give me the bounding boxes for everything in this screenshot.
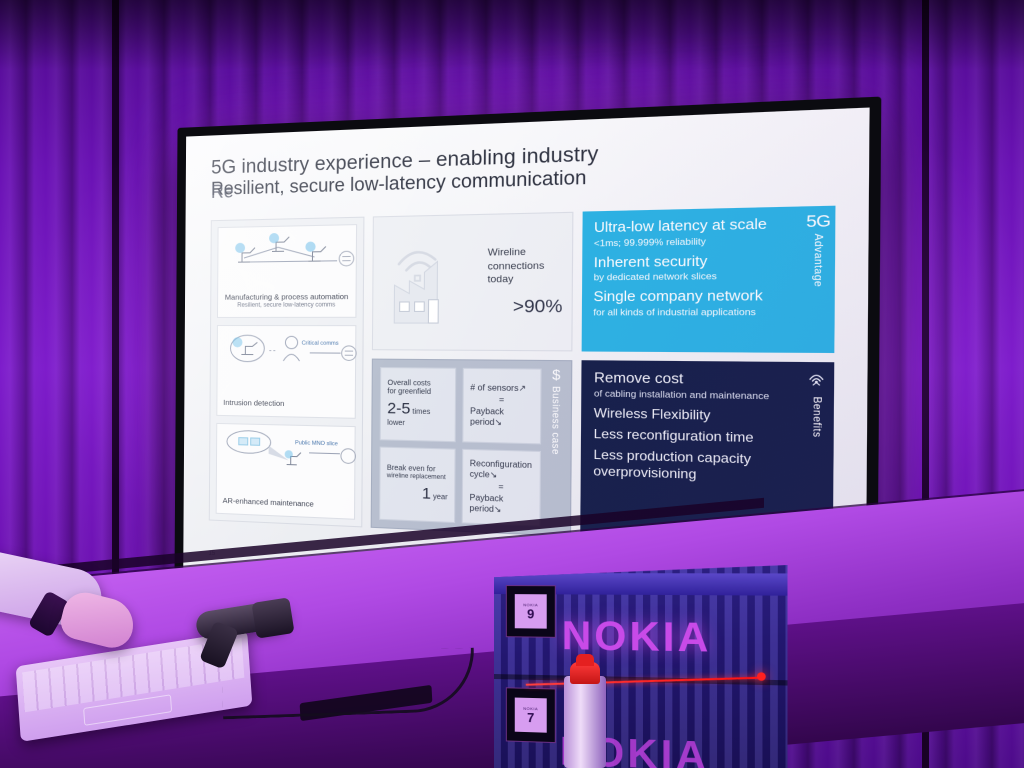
down-arrow-icon: ↘ xyxy=(494,504,501,514)
dollar-icon: $ xyxy=(552,368,560,382)
biz-value: 2-5 xyxy=(387,400,410,418)
factory-line-3: today xyxy=(487,273,562,287)
usecase-card-manufacturing: Manufacturing & process automation Resil… xyxy=(217,224,357,318)
benefits-label-text: Benefits xyxy=(811,396,824,437)
usecase-tag: Critical comms xyxy=(302,341,339,347)
business-case-panel: Overall costs for greenfield 2-5 times l… xyxy=(371,359,573,537)
advantage-panel: 5G Ultra-low latency at scale <1ms; 99.9… xyxy=(582,206,836,353)
benefits-heading: Remove cost xyxy=(594,370,794,389)
screenshot-stage: 5G industry experience – enabling indust… xyxy=(0,0,1024,768)
advantage-sub: <1ms; 99.999% reliability xyxy=(594,233,797,248)
factory-wifi-icon xyxy=(381,233,481,331)
biz-line: wireline replacement xyxy=(387,473,448,483)
container-placard-2: NOKIA 7 xyxy=(506,687,556,743)
advantage-sub: by dedicated network slices xyxy=(594,270,797,283)
usecase-title: Intrusion detection xyxy=(223,398,348,410)
title-overlap-fragment: Re xyxy=(211,181,234,203)
placard-number: 9 xyxy=(527,607,534,620)
ceiling-shadow xyxy=(0,0,1024,70)
laser-dot xyxy=(757,672,766,681)
biz-value-suffix: year xyxy=(433,493,448,501)
spray-can-body[interactable] xyxy=(564,676,606,768)
advantage-sub: for all kinds of industrial applications xyxy=(593,306,796,318)
biz-box-breakeven: Break even for wireline replacement 1 ye… xyxy=(379,447,456,524)
biz-line: Payback period↘ xyxy=(469,493,532,517)
benefits-line: Less production capacity overprovisionin… xyxy=(593,447,793,486)
advantage-heading: Single company network xyxy=(593,288,796,305)
biz-line: Payback period↘ xyxy=(470,406,533,429)
advantage-heading: Inherent security xyxy=(594,252,798,271)
factory-panel: Wireline connections today >90% xyxy=(372,212,574,352)
benefits-line: Wireless Flexibility xyxy=(594,405,794,426)
usecase-title: Manufacturing & process automation xyxy=(224,292,349,302)
advantage-label-text: Advantage xyxy=(812,233,825,287)
usecase-title: AR-enhanced maintenance xyxy=(223,496,348,510)
advantage-badge: 5G xyxy=(806,212,830,232)
up-arrow-icon: ↗ xyxy=(518,383,526,393)
advantage-heading: Ultra-low latency at scale xyxy=(594,216,798,236)
nokia-container-model: NOKIA NOKIA NOKIA 9 NOKIA 7 xyxy=(494,565,788,768)
biz-value: 1 xyxy=(422,484,431,502)
usecase-card-intrusion: Critical comms Intrusion detection xyxy=(216,325,356,419)
hair-dryer-nozzle xyxy=(251,597,294,639)
down-arrow-icon: ↘ xyxy=(490,470,497,480)
biz-box-greenfield: Overall costs for greenfield 2-5 times l… xyxy=(380,367,457,442)
usecase-subtitle: Resilient, secure low-latency comms xyxy=(224,302,349,310)
biz-equals: = xyxy=(470,395,533,407)
factory-line-2: connections xyxy=(488,260,563,274)
usecase-card-ar: Public MNO slice AR-enhanced maintenance xyxy=(216,423,356,520)
ar-headset-icon xyxy=(217,428,355,473)
usecase-tag: Public MNO slice xyxy=(295,440,338,447)
biz-equals: = xyxy=(470,481,533,494)
factory-percentage: >90% xyxy=(487,296,562,318)
biz-line: # of sensors↗ xyxy=(470,383,533,395)
robot-arm-icon xyxy=(218,229,356,272)
biz-line: for greenfield xyxy=(387,388,448,398)
benefits-sub: of cabling installation and maintenance xyxy=(594,387,794,402)
slide-body-grid: Manufacturing & process automation Resil… xyxy=(209,206,836,549)
biz-text: # of sensors xyxy=(470,383,518,393)
business-case-side-label: $ Business case xyxy=(544,368,568,529)
business-case-label-text: Business case xyxy=(550,386,562,455)
advantage-side-label: Advantage xyxy=(805,233,831,346)
placard-number: 7 xyxy=(527,711,534,724)
factory-line-1: Wireline xyxy=(488,246,563,261)
spray-can-nozzle xyxy=(576,654,594,666)
biz-text: cycle xyxy=(470,469,490,479)
person-detection-icon xyxy=(218,330,356,372)
container-placard-1: NOKIA 9 xyxy=(506,585,556,638)
down-arrow-icon: ↘ xyxy=(495,417,503,427)
wireless-signal-icon xyxy=(806,369,826,388)
usecase-column: Manufacturing & process automation Resil… xyxy=(209,217,365,528)
biz-box-reconfiguration: Reconfiguration cycle↘ = Payback period↘ xyxy=(462,449,541,527)
biz-line: cycle↘ xyxy=(470,469,533,482)
benefits-line: Less reconfiguration time xyxy=(594,426,794,447)
biz-box-sensors: # of sensors↗ = Payback period↘ xyxy=(462,368,541,445)
slide-header: 5G industry experience – enabling indust… xyxy=(211,134,836,210)
